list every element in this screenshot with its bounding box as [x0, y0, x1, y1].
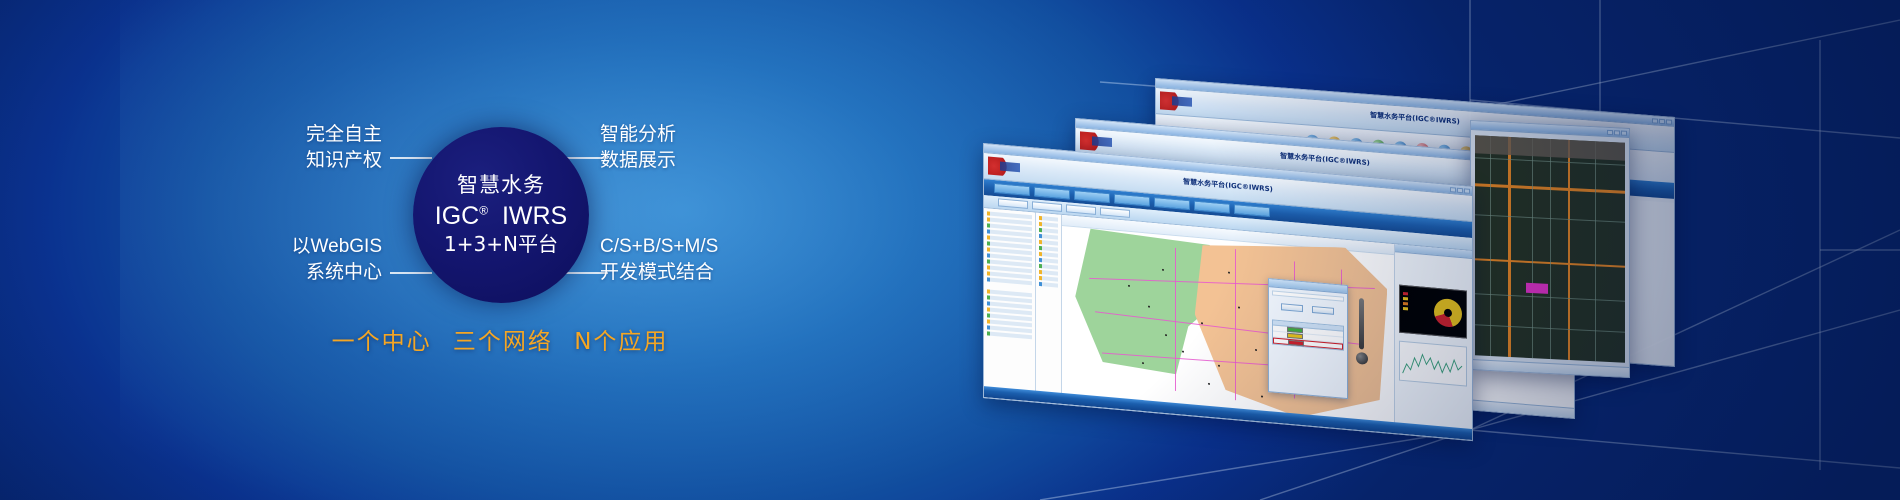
feature-top-left: 完全自主 知识产权 [182, 122, 382, 173]
dashboard-panel [1394, 244, 1472, 440]
subnav-tab[interactable] [998, 198, 1028, 209]
pie-legend [1403, 292, 1408, 312]
tagline-part-3: N个应用 [574, 329, 668, 355]
hero-banner: 智慧水务平台(IGC®IWRS) 智慧水务平台(IGC®IWRS) [0, 0, 1900, 500]
dialog-cancel-button[interactable] [1312, 306, 1334, 315]
nav-tab[interactable] [1114, 194, 1150, 207]
banner-tagline: 一个中心 三个网络 N个应用 [230, 322, 770, 356]
supply-pie-widget [1399, 285, 1467, 339]
subnav-tab[interactable] [1066, 204, 1096, 215]
subnav-tab[interactable] [1100, 207, 1130, 218]
feature-line-2: 知识产权 [182, 148, 382, 174]
subnav-tab[interactable] [1032, 201, 1062, 212]
dialog-ok-button[interactable] [1281, 304, 1303, 313]
connector-line-bottom-left [390, 272, 432, 274]
road-major [1568, 140, 1570, 360]
app-window-right[interactable] [1470, 120, 1630, 378]
road-minor [1550, 139, 1551, 359]
layer-tree-panel[interactable] [984, 208, 1036, 402]
tool-palette[interactable] [1036, 213, 1062, 404]
satellite-map[interactable] [1475, 135, 1625, 363]
terrain-band [1475, 135, 1625, 160]
attribute-query-dialog[interactable] [1268, 278, 1348, 398]
road-major [1508, 137, 1511, 357]
feature-top-right: 智能分析 数据展示 [600, 122, 840, 173]
central-hub-circle: 智慧水务 IGC® IWRS 1+3+N平台 [413, 127, 589, 303]
feature-bottom-right: C/S+B/S+M/S 开发模式结合 [600, 234, 840, 285]
road-minor [1595, 141, 1596, 361]
hub-brand-iwrs: IWRS [502, 202, 567, 230]
zoom-slider[interactable] [1359, 298, 1364, 350]
nav-tab[interactable] [1154, 197, 1190, 210]
hub-product-name-cn: 智慧水务 [457, 173, 545, 198]
map-navigation-control[interactable] [1356, 297, 1368, 381]
hub-platform-label: 1+3+N平台 [444, 231, 558, 257]
registered-mark-icon: ® [479, 203, 488, 217]
road-minor [1532, 138, 1533, 358]
nav-tab[interactable] [1034, 186, 1070, 199]
tagline-part-1: 一个中心 [332, 329, 432, 355]
app-window-front[interactable]: 智慧水务平台(IGC®IWRS) [983, 143, 1473, 441]
nav-tab[interactable] [1074, 190, 1110, 203]
nav-tab[interactable] [994, 183, 1030, 196]
pipeline [1175, 248, 1176, 392]
feature-line-1: 智能分析 [600, 123, 676, 145]
feature-line-1: 以WebGIS [292, 236, 382, 257]
road-minor [1490, 136, 1491, 356]
result-table[interactable] [1272, 320, 1344, 351]
panel-trend-chart [1399, 341, 1467, 387]
nav-tab[interactable] [1234, 204, 1270, 217]
hub-brand-igc: IGC [435, 202, 479, 230]
connector-line-top-left [390, 157, 432, 159]
feature-bottom-left: 以WebGIS 系统中心 [182, 234, 382, 285]
selection-marker[interactable] [1526, 283, 1548, 294]
nav-tab[interactable] [1194, 201, 1230, 214]
feature-line-2: 系统中心 [182, 260, 382, 286]
tagline-part-2: 三个网络 [453, 329, 553, 355]
feature-line-1: 完全自主 [306, 123, 382, 145]
pipeline [1235, 249, 1236, 400]
hub-product-name-en: IGC® IWRS [435, 202, 567, 231]
pan-compass-icon[interactable] [1356, 352, 1368, 365]
feature-line-2: 数据展示 [600, 148, 840, 174]
feature-line-2: 开发模式结合 [600, 260, 840, 286]
feature-line-1: C/S+B/S+M/S [600, 236, 718, 257]
